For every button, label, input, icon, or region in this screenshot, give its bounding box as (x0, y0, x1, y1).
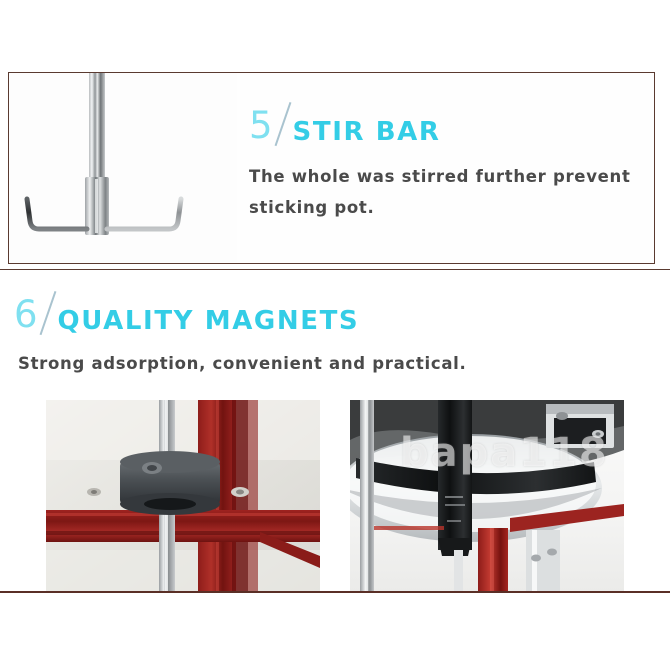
stir-bar-body-line-2: sticking pot. (249, 192, 644, 223)
magnets-heading: 6 QUALITY MAGNETS (14, 292, 359, 336)
section-stir-bar: 5 STIR BAR The whole was stirred further… (8, 72, 655, 264)
photo-magnet-collar (46, 400, 320, 592)
section-number: 5 (249, 107, 273, 144)
bottom-rule (0, 591, 670, 593)
section-title: QUALITY MAGNETS (58, 308, 360, 334)
magnets-body-text: Strong adsorption, convenient and practi… (18, 352, 467, 376)
stir-bar-heading: 5 STIR BAR (249, 103, 644, 147)
stir-bar-svg (9, 73, 237, 262)
stir-bar-text-block: 5 STIR BAR The whole was stirred further… (249, 103, 644, 223)
photo-magnet-collar-svg (46, 400, 320, 592)
section-title: STIR BAR (293, 119, 441, 145)
photo-magnet-straps: bapa118 (350, 400, 624, 592)
slash-separator-icon (38, 292, 58, 336)
magnet-photo-gallery: bapa118 (46, 400, 624, 592)
stir-bar-illustration (9, 73, 237, 262)
section-number: 6 (14, 296, 38, 333)
infographic-page: 5 STIR BAR The whole was stirred further… (0, 0, 670, 670)
slash-separator-icon (273, 103, 293, 147)
photo-magnet-straps-svg (350, 400, 624, 592)
stir-bar-body-line-1: The whole was stirred further prevent (249, 161, 644, 192)
section-divider (0, 269, 670, 270)
